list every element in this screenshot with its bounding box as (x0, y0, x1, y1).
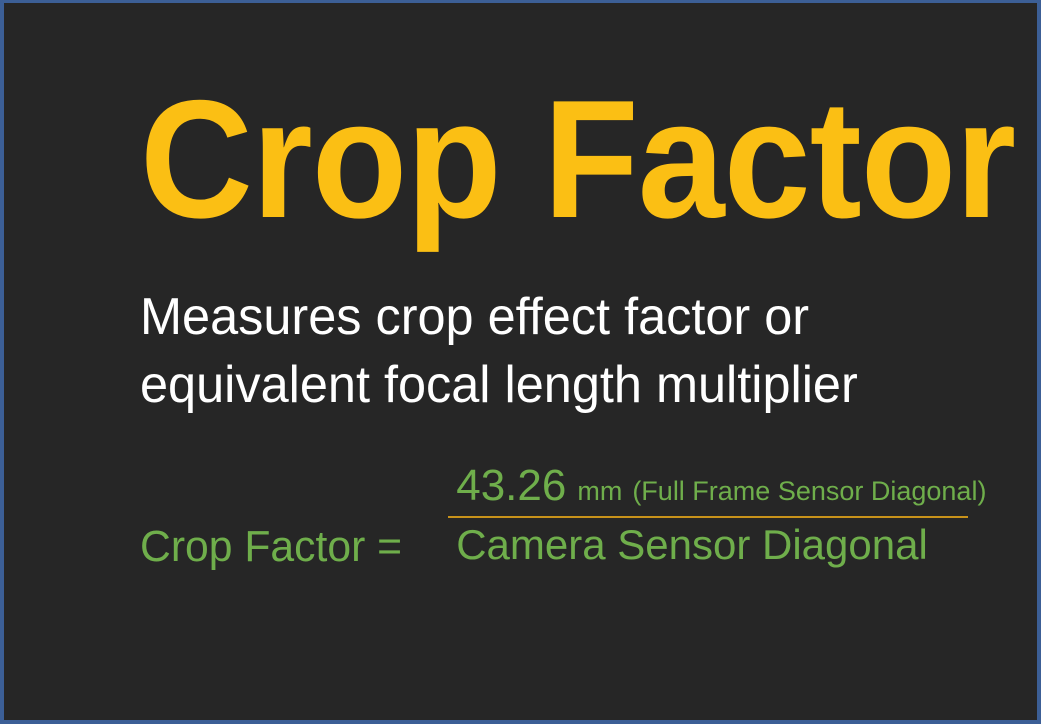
subtitle-text: Measures crop effect factor or equivalen… (140, 283, 955, 419)
fraction-denominator: Camera Sensor Diagonal (448, 520, 928, 570)
page-title: Crop Factor (140, 75, 1015, 243)
formula-fraction: 43.26 mm (Full Frame Sensor Diagonal) Ca… (448, 463, 988, 570)
fraction-numerator: 43.26 mm (Full Frame Sensor Diagonal) (448, 463, 988, 513)
formula-label: Crop Factor = (140, 463, 402, 569)
slide-canvas: Crop Factor Measures crop effect factor … (0, 0, 1041, 724)
subtitle-line-1: Measures crop effect factor or (140, 283, 955, 351)
fraction-bar (448, 516, 968, 518)
numerator-unit: mm (577, 478, 622, 505)
numerator-note: (Full Frame Sensor Diagonal) (632, 478, 986, 505)
subtitle-line-2: equivalent focal length multiplier (140, 351, 955, 419)
numerator-value: 43.26 (456, 463, 566, 509)
crop-factor-formula: Crop Factor = 43.26 mm (Full Frame Senso… (140, 463, 988, 570)
